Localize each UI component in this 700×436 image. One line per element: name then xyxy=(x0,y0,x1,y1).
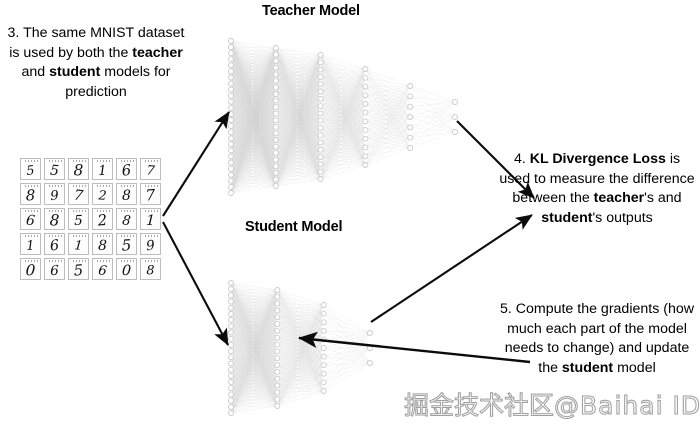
callout-step-3: 3. The same MNIST dataset is used by bot… xyxy=(2,24,190,102)
arrow-data-to-teacher xyxy=(163,112,229,216)
callout-step-4: 4. KL Divergence Loss is used to measure… xyxy=(497,150,697,228)
arrow-data-to-student xyxy=(163,222,228,345)
arrow-gradient-update-to-student xyxy=(299,338,530,362)
student-model-title: Student Model xyxy=(245,219,342,235)
callout-step-5: 5. Compute the gradients (how much each … xyxy=(497,300,697,378)
diagram-canvas: Teacher Model Student Model 3. The same … xyxy=(0,0,700,436)
teacher-model-title: Teacher Model xyxy=(262,3,360,19)
